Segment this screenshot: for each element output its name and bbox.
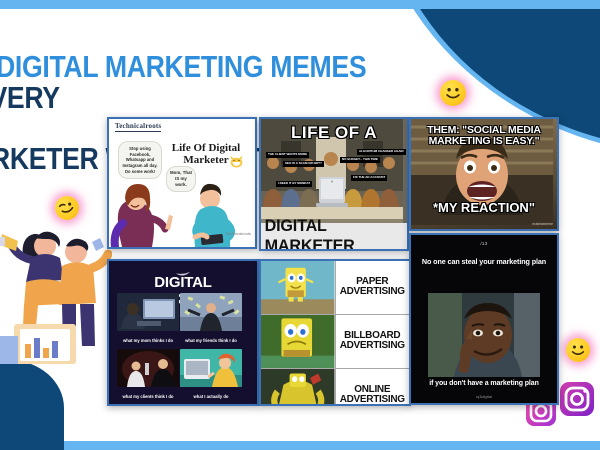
panel-label: what my clients think I do [117, 392, 179, 403]
panel-image-clients [117, 349, 179, 387]
navy-quarter-circle [0, 360, 64, 450]
page-title-suffix: EVERY [0, 80, 60, 115]
smiley-face-glyph [440, 80, 466, 106]
meme-panel: what my friends think I do [180, 293, 242, 347]
meme-row-label: PAPER ADVERTISING [335, 261, 410, 314]
meme-watermark: makeameme [532, 222, 553, 226]
meme-bottom-text: *MY REACTION" [411, 200, 557, 215]
meme-card-what-i-actually-do[interactable]: DIGITAL MARKETING what my mom thinks I d… [107, 259, 259, 406]
smiley-face-glyph-2 [566, 338, 590, 362]
meme-nicolas-cage-body: THEM: "SOCIAL MEDIA MARKETING IS EASY." … [411, 119, 557, 229]
meme-row: adChakra ONLINE ADVERTISING [261, 369, 409, 406]
meme-panel-grid: what my mom thinks I do [117, 293, 245, 405]
meme-life-of-digital-marketer-body: Technicalroots Life Of Digital Marketer … [109, 119, 255, 247]
panel-label: what my friends think I do [180, 336, 242, 347]
spongebob-panel-sad [261, 315, 335, 368]
meme-top-text: LIFE OF A [261, 123, 407, 143]
meme-roll-safe-body: /13 No one can steal your marketing plan [411, 235, 557, 403]
meme-card-roll-safe[interactable]: /13 No one can steal your marketing plan [409, 233, 559, 405]
meme-panel: what my clients think I do [117, 349, 179, 403]
meme-top-text: No one can steal your marketing plan [411, 257, 557, 268]
smiley-face-emoji [440, 80, 466, 106]
marketing-people-megaphone-illustration [0, 196, 112, 366]
meme-brand-label: Technicalroots [115, 122, 161, 132]
grinning-cat-emoji [230, 155, 243, 167]
meme-spongebob-advertising-body: PAPER ADVERTISING BILLBOARD ADVERTISING [261, 261, 409, 404]
meme-card-last-supper[interactable]: LIFE OF A THE CLIENT WANTS MORE SEO IS A… [259, 117, 409, 251]
panel-image-friends [180, 293, 242, 331]
bottom-accent-bar [0, 441, 600, 450]
meme-row-label: ONLINE ADVERTISING [335, 369, 410, 406]
meme-panel: what I actually do [180, 349, 242, 403]
meme-caption-1: SEO IS A SCAM OR NOT? [283, 161, 324, 167]
meme-caption-3: NO BUDGET... THIS TIME [340, 157, 380, 163]
meme-row: BILLBOARD ADVERTISING [261, 315, 409, 369]
meme-card-life-of-digital-marketer[interactable]: Technicalroots Life Of Digital Marketer … [107, 117, 257, 249]
meme-caption-4: ALGORITHM CHANGED AGAIN [357, 149, 406, 155]
meme-bottom-text: if you don't have a marketing plan [411, 380, 557, 387]
meme-card-nicolas-cage[interactable]: THEM: "SOCIAL MEDIA MARKETING IS EASY." … [409, 117, 559, 231]
spongebob-panel-normal [261, 261, 335, 314]
meme-characters-illustration [109, 181, 251, 247]
meme-last-supper-body: LIFE OF A THE CLIENT WANTS MORE SEO IS A… [261, 119, 407, 249]
panel-label: what I actually do [180, 392, 242, 403]
meme-what-i-actually-do-body: DIGITAL MARKETING what my mom thinks I d… [109, 261, 257, 404]
meme-top-text: THEM: "SOCIAL MEDIA MARKETING IS EASY." [411, 125, 557, 147]
speech-bubble-mom: Stop using Facebook, Whatsapp and Instag… [118, 141, 162, 179]
meme-handle-top: /13 [411, 241, 557, 246]
slide-canvas: P DIGITAL MARKETING MEMES EVERY ARKETER … [0, 0, 600, 450]
meme-row: PAPER ADVERTISING [261, 261, 409, 315]
meme-card-spongebob-advertising[interactable]: PAPER ADVERTISING BILLBOARD ADVERTISING [259, 259, 411, 406]
roll-safe-photo [428, 293, 540, 377]
meme-handle-bottom: iq3digital [411, 394, 557, 399]
top-accent-bar [0, 0, 600, 9]
meme-watermark: Technicalroots [225, 231, 251, 236]
meme-row-label: BILLBOARD ADVERTISING [335, 315, 410, 368]
panel-label: what my mom thinks I do [117, 336, 179, 347]
meme-caption-0: THE CLIENT WANTS MORE [266, 152, 309, 158]
panel-image-actually [180, 349, 242, 387]
page-title-line1: P DIGITAL MARKETING MEMES EVERY [0, 49, 366, 114]
panel-image-mom [117, 293, 179, 331]
meme-bottom-band: DIGITAL MARKETER [261, 223, 407, 249]
smiley-face-emoji-2 [566, 338, 590, 362]
meme-panel: what my mom thinks I do [117, 293, 179, 347]
meme-bottom-text: DIGITAL MARKETER [265, 216, 404, 251]
meme-caption-5: FIX THE AD ACCOUNT [351, 175, 387, 181]
meme-caption-2: I NEED IT BY MONDAY [276, 181, 312, 187]
spongebob-panel-buff: adChakra [261, 369, 335, 406]
